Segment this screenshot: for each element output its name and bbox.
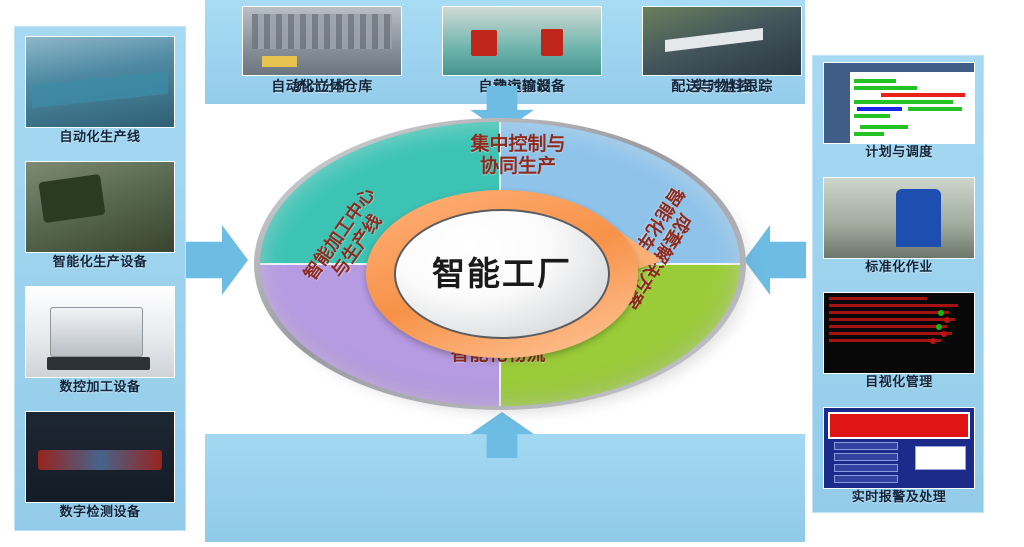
smart-factory-diagram: 自动化生产线 智能化生产设备 数控加工设备 数字检测设备 统计分析	[0, 0, 1024, 547]
bottom-card-2-thumbnail	[642, 6, 802, 76]
bottom-card-1-thumbnail	[442, 6, 602, 76]
left-card-0-thumbnail	[25, 36, 175, 128]
right-card-1[interactable]: 标准化作业	[820, 177, 978, 275]
bottom-card-0[interactable]: 自动化立体仓库	[242, 6, 402, 95]
right-card-2[interactable]: 目视化管理	[820, 292, 978, 390]
left-card-3-thumbnail	[25, 411, 175, 503]
inner-ellipse: 智能工厂	[394, 209, 610, 339]
right-card-0-caption: 计划与调度	[865, 144, 933, 160]
right-card-3-caption: 实时报警及处理	[852, 489, 947, 505]
left-card-2-thumbnail	[25, 286, 175, 378]
bottom-card-0-caption: 自动化立体仓库	[271, 76, 373, 95]
right-card-2-caption: 目视化管理	[865, 374, 933, 390]
bottom-card-2-caption: 配送与物料跟踪	[671, 76, 773, 95]
right-card-1-thumbnail	[823, 177, 975, 259]
bottom-card-1[interactable]: 自动运输设备	[442, 6, 602, 95]
left-card-2[interactable]: 数控加工设备	[22, 286, 178, 395]
bottom-card-2[interactable]: 配送与物料跟踪	[642, 6, 802, 95]
right-card-1-caption: 标准化作业	[865, 259, 933, 275]
left-card-0[interactable]: 自动化生产线	[22, 36, 178, 145]
bottom-card-0-thumbnail	[242, 6, 402, 76]
left-card-1[interactable]: 智能化生产设备	[22, 161, 178, 270]
arrow-right-icon	[186, 225, 248, 295]
quadrant-label-top: 集中控制与协同生产	[418, 134, 618, 178]
right-card-3[interactable]: 实时报警及处理	[820, 407, 978, 505]
left-card-1-thumbnail	[25, 161, 175, 253]
left-card-1-caption: 智能化生产设备	[53, 253, 148, 270]
right-card-0-thumbnail	[823, 62, 975, 144]
orange-ring: 智能工厂	[366, 190, 638, 358]
left-card-3-caption: 数字检测设备	[59, 503, 140, 520]
left-card-2-caption: 数控加工设备	[59, 378, 140, 395]
right-card-3-thumbnail	[823, 407, 975, 489]
right-card-2-thumbnail	[823, 292, 975, 374]
left-card-0-caption: 自动化生产线	[59, 128, 140, 145]
left-card-3[interactable]: 数字检测设备	[22, 411, 178, 520]
center-title: 智能工厂	[396, 257, 608, 291]
central-donut-diagram: 集中控制与协同生产 成套解决方案智能化车间与装备 智能化物流 智能加工中心与生产…	[248, 112, 760, 422]
right-card-0[interactable]: 计划与调度	[820, 62, 978, 160]
